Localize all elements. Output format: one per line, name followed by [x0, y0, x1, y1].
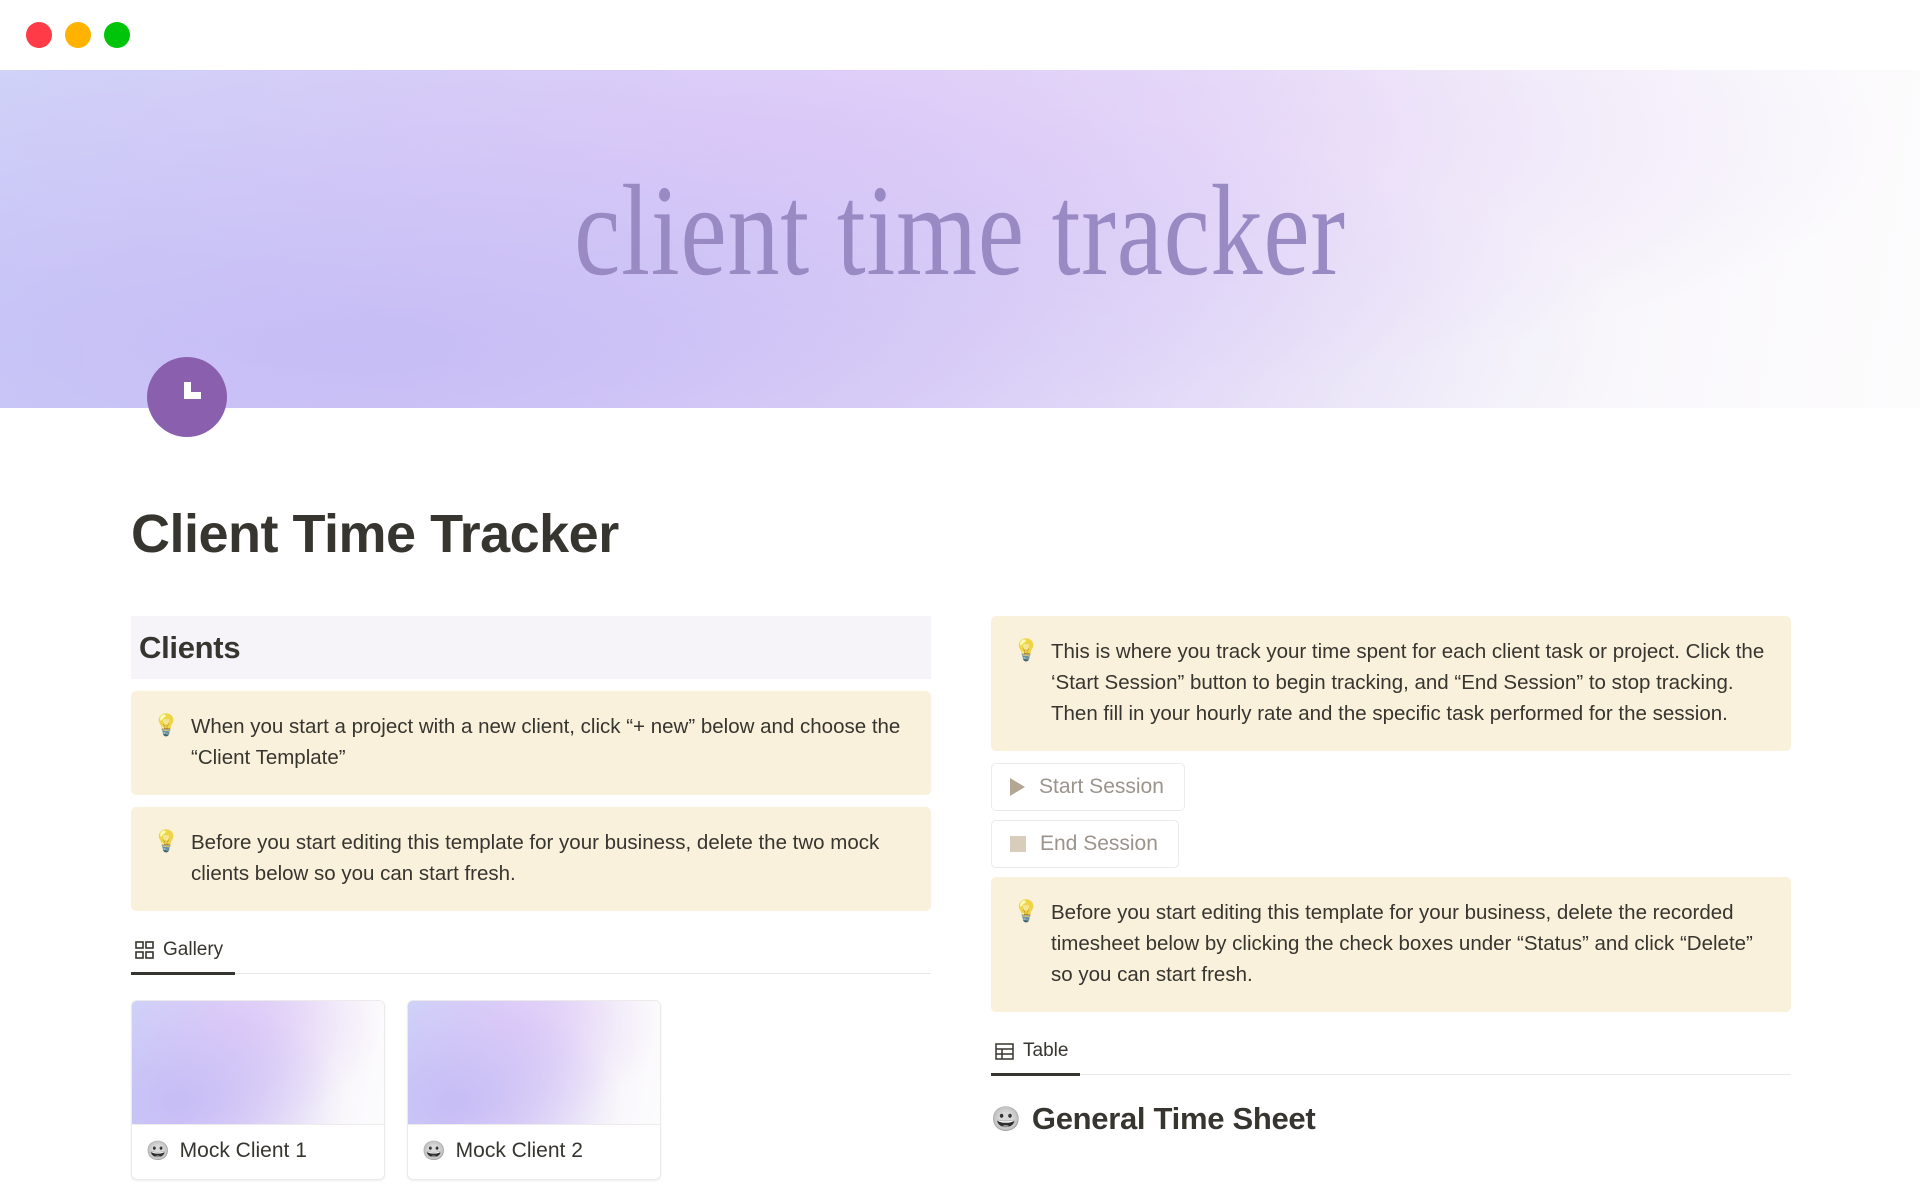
tab-gallery[interactable]: Gallery [131, 935, 235, 975]
clients-heading: Clients [139, 630, 240, 665]
callout-text: Before you start editing this template f… [191, 827, 909, 889]
gallery-card-title: Mock Client 1 [180, 1139, 307, 1163]
lightbulb-icon: 💡 [1013, 636, 1037, 666]
banner-title-text: client time tracker [192, 166, 1728, 296]
gallery-grid-icon [135, 941, 154, 960]
callout-new-client: 💡 When you start a project with a new cl… [131, 691, 931, 795]
gallery-card[interactable]: 😀 Mock Client 2 [407, 1000, 661, 1180]
gallery-card-label-row: 😀 Mock Client 1 [132, 1125, 384, 1179]
gallery-card-cover [132, 1001, 384, 1125]
timesheet-view-tabbar: Table [991, 1036, 1791, 1075]
page-cover-banner[interactable]: client time tracker [0, 70, 1920, 408]
grinning-face-icon: 😀 [422, 1139, 446, 1163]
grinning-face-icon: 😀 [146, 1139, 170, 1163]
end-session-button[interactable]: End Session [991, 820, 1179, 868]
clock-icon[interactable] [147, 357, 227, 437]
clients-view-tabbar: Gallery [131, 935, 931, 974]
lightbulb-icon: 💡 [1013, 897, 1037, 927]
window-minimize-button[interactable] [65, 22, 91, 48]
gallery-card-title: Mock Client 2 [456, 1139, 583, 1163]
table-grid-icon [995, 1042, 1014, 1061]
clients-section-header: Clients [131, 616, 931, 679]
session-button-group: Start Session End Session [991, 763, 1791, 877]
left-column: Clients 💡 When you start a project with … [131, 616, 931, 1180]
callout-delete-timesheet: 💡 Before you start editing this template… [991, 877, 1791, 1012]
lightbulb-icon: 💡 [153, 711, 177, 741]
start-session-label: Start Session [1039, 775, 1164, 799]
callout-delete-mock-clients: 💡 Before you start editing this template… [131, 807, 931, 911]
lightbulb-icon: 💡 [153, 827, 177, 857]
page-title: Client Time Tracker [131, 503, 619, 565]
gallery-card-label-row: 😀 Mock Client 2 [408, 1125, 660, 1179]
stop-icon [1010, 836, 1026, 852]
right-column: 💡 This is where you track your time spen… [991, 616, 1791, 1137]
timesheet-database-title[interactable]: 😀 General Time Sheet [991, 1101, 1791, 1137]
start-session-button[interactable]: Start Session [991, 763, 1185, 811]
tab-gallery-label: Gallery [163, 939, 223, 961]
window-title-bar [0, 0, 1920, 70]
tab-table[interactable]: Table [991, 1036, 1080, 1076]
end-session-label: End Session [1040, 832, 1158, 856]
gallery-card[interactable]: 😀 Mock Client 1 [131, 1000, 385, 1180]
window-maximize-button[interactable] [104, 22, 130, 48]
gallery-card-cover [408, 1001, 660, 1125]
callout-time-tracking-howto: 💡 This is where you track your time spen… [991, 616, 1791, 751]
page-body: Client Time Tracker Clients 💡 When you s… [0, 408, 1920, 1200]
callout-text: This is where you track your time spent … [1051, 636, 1769, 729]
callout-text: Before you start editing this template f… [1051, 897, 1769, 990]
play-icon [1010, 778, 1025, 796]
grinning-face-icon: 😀 [991, 1105, 1021, 1134]
timesheet-database-title-text: General Time Sheet [1032, 1101, 1316, 1137]
callout-text: When you start a project with a new clie… [191, 711, 909, 773]
window-close-button[interactable] [26, 22, 52, 48]
clients-gallery: 😀 Mock Client 1 😀 Mock Client 2 [131, 1000, 931, 1180]
tab-table-label: Table [1023, 1040, 1068, 1062]
